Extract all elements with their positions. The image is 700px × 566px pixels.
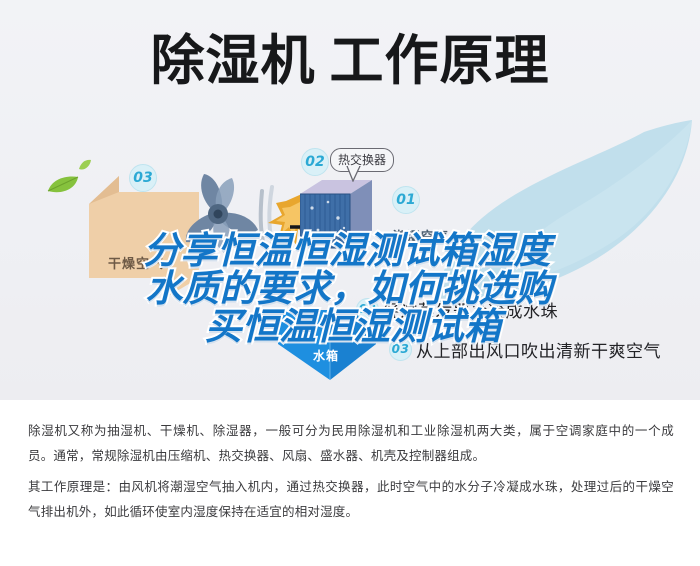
article-paragraph-1: 除湿机又称为抽湿机、干燥机、除湿器，一般可分为民用除湿机和工业除湿机两大类，属于…: [28, 418, 674, 468]
infographic-banner: 除湿机工作原理: [0, 0, 700, 400]
overlay-headline-line2: 水质的要求，如何挑选购: [0, 270, 700, 308]
overlay-headline: 分享恒温恒湿测试箱湿度 水质的要求，如何挑选购 买恒温恒湿测试箱: [0, 232, 700, 346]
water-tank-label: 水箱: [313, 347, 339, 364]
page-root: 除湿机工作原理: [0, 0, 700, 566]
page-title-part2: 工作原理: [330, 29, 550, 92]
overlay-headline-line3: 买恒温恒湿测试箱: [0, 308, 700, 346]
article-paragraph-2: 其工作原理是：由风机将潮湿空气抽入机内，通过热交换器，此时空气中的水分子冷凝成水…: [28, 474, 674, 524]
article-body: 除湿机又称为抽湿机、干燥机、除湿器，一般可分为民用除湿机和工业除湿机两大类，属于…: [0, 400, 700, 566]
leaf-icon: [46, 175, 80, 199]
page-title: 除湿机工作原理: [0, 30, 700, 92]
step-badge-03: 03: [129, 164, 157, 192]
step-badge-01: 01: [392, 186, 420, 214]
heat-exchanger-callout: 热交换器: [330, 148, 394, 172]
callout-pointer-icon: [346, 166, 362, 182]
page-title-part1: 除湿机: [151, 29, 316, 92]
step-badge-02: 02: [301, 148, 329, 176]
overlay-headline-line1: 分享恒温恒湿测试箱湿度: [0, 232, 700, 270]
